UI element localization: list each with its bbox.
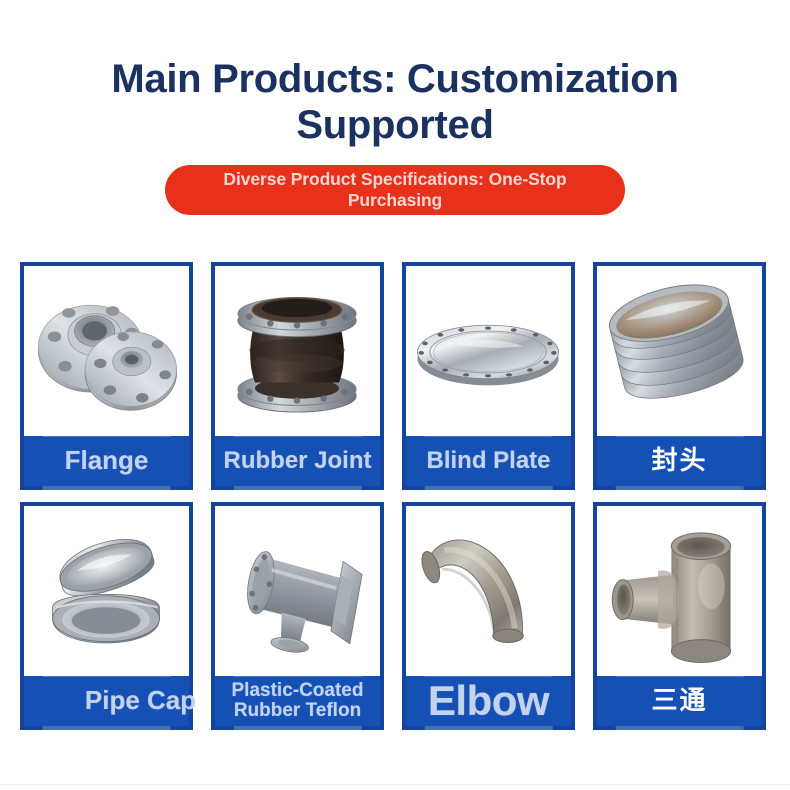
product-card-plastic-coated-pipe[interactable]: Plastic-Coated Rubber Teflon — [211, 502, 384, 730]
subtitle-badge: Diverse Product Specifications: One-Stop… — [165, 165, 625, 216]
dished-head-icon — [597, 266, 762, 436]
label-sheen-bottom — [424, 726, 553, 730]
product-card-blind-plate[interactable]: Blind Plate — [402, 262, 575, 490]
product-label-band: Plastic-Coated Rubber Teflon — [215, 676, 380, 726]
product-label-text: Elbow — [428, 679, 549, 723]
product-label-band: Blind Plate — [406, 436, 571, 486]
footer-divider — [0, 784, 790, 785]
label-sheen-bottom — [615, 486, 744, 490]
product-label-band: Pipe Cap — [24, 676, 189, 726]
product-label-band: Rubber Joint — [215, 436, 380, 486]
plastic-coated-pipe-icon — [215, 506, 380, 676]
product-label-text: 三通 — [651, 687, 707, 714]
product-grid: Flange — [20, 262, 770, 730]
pipe-cap-photo — [24, 506, 189, 676]
flange-photo — [24, 266, 189, 436]
product-card-dished-head[interactable]: 封头 — [593, 262, 766, 490]
product-label-text: 封头 — [651, 447, 707, 474]
elbow-icon — [406, 506, 571, 676]
page-title: Main Products: Customization Supported — [75, 56, 715, 149]
elbow-photo — [406, 506, 571, 676]
subtitle-container: Diverse Product Specifications: One-Stop… — [0, 165, 790, 216]
label-sheen-bottom — [233, 486, 362, 490]
tee-photo — [597, 506, 762, 676]
product-label-band: Flange — [24, 436, 189, 486]
blind-plate-icon — [406, 266, 571, 436]
pipe-cap-icon — [24, 506, 189, 676]
label-sheen-bottom — [424, 486, 553, 490]
page-header: Main Products: Customization Supported D… — [0, 0, 790, 215]
flange-icon — [24, 266, 189, 436]
subtitle-text: Diverse Product Specifications: One-Stop… — [183, 169, 607, 212]
product-label-text: Flange — [65, 447, 149, 474]
product-label-band: Elbow — [406, 676, 571, 726]
label-sheen-bottom — [615, 726, 744, 730]
product-card-elbow[interactable]: Elbow — [402, 502, 575, 730]
product-label-text: Rubber Joint — [224, 449, 372, 474]
product-label-text: Pipe Cap — [85, 687, 196, 714]
rubber-joint-icon — [215, 266, 380, 436]
product-card-tee[interactable]: 三通 — [593, 502, 766, 730]
label-sheen-bottom — [233, 726, 362, 730]
product-card-pipe-cap[interactable]: Pipe Cap — [20, 502, 193, 730]
product-label-text: Plastic-Coated Rubber Teflon — [217, 681, 378, 721]
product-label-band: 三通 — [597, 676, 762, 726]
tee-icon — [597, 506, 762, 676]
product-card-flange[interactable]: Flange — [20, 262, 193, 490]
rubber-joint-photo — [215, 266, 380, 436]
product-label-band: 封头 — [597, 436, 762, 486]
label-sheen-bottom — [42, 726, 171, 730]
plastic-coated-pipe-photo — [215, 506, 380, 676]
label-sheen-bottom — [42, 486, 171, 490]
product-card-rubber-joint[interactable]: Rubber Joint — [211, 262, 384, 490]
dished-head-photo — [597, 266, 762, 436]
blind-plate-photo — [406, 266, 571, 436]
product-label-text: Blind Plate — [426, 449, 550, 474]
